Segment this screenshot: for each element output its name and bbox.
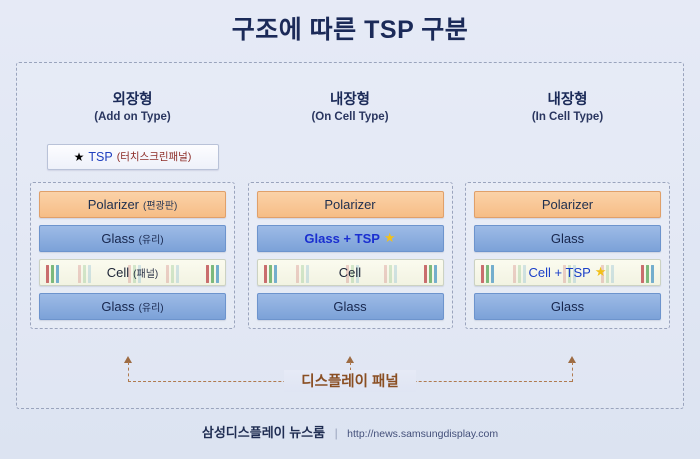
column-subtitle: (In Cell Type) (465, 110, 670, 126)
layer-sublabel: (유리) (139, 231, 164, 246)
columns-container: 외장형 (Add on Type) ★ TSP (터치스크린패널) Polari… (16, 62, 684, 362)
rgb-stripe-icon (641, 265, 654, 283)
layer-cell-tsp[interactable]: Cell + TSP ★ (474, 259, 661, 286)
layer-label: Polarizer (542, 197, 593, 212)
star-icon: ★ (74, 151, 85, 163)
layer-glass-bottom[interactable]: Glass (유리) (39, 293, 226, 320)
layer-cell[interactable]: Cell (257, 259, 444, 286)
tsp-sublabel: (터치스크린패널) (117, 149, 192, 164)
display-panel-connector: 디스플레이 패널 (16, 356, 684, 400)
rgb-stripe-icon (481, 265, 494, 283)
column-in-cell-type: 내장형 (In Cell Type) Polarizer Glass (465, 62, 670, 362)
column-header: 외장형 (Add on Type) (30, 62, 235, 126)
layer-polarizer[interactable]: Polarizer (257, 191, 444, 218)
column-title: 외장형 (30, 91, 235, 109)
layer-label: Glass (551, 231, 584, 246)
star-icon: ★ (595, 264, 607, 280)
rgb-stripe-icon (424, 265, 437, 283)
layer-label: Polarizer (88, 197, 139, 212)
layer-stack: Polarizer Glass Cell + TSP ★ (465, 182, 670, 329)
rgb-stripe-icon (264, 265, 277, 283)
rgb-stripe-icon (166, 265, 179, 283)
column-header: 내장형 (In Cell Type) (465, 62, 670, 126)
layer-label: Glass (101, 231, 134, 246)
layer-stack: Polarizer (편광판) Glass (유리) Cell (패널) (30, 182, 235, 329)
layer-glass-bottom[interactable]: Glass (474, 293, 661, 320)
layer-label: Glass (551, 299, 584, 314)
footer-url[interactable]: http://news.samsungdisplay.com (347, 428, 498, 440)
layer-stack: Polarizer Glass + TSP ★ Cell (248, 182, 453, 329)
layer-glass-bottom[interactable]: Glass (257, 293, 444, 320)
connector-vline (128, 362, 129, 382)
layer-glass-top[interactable]: Glass (유리) (39, 225, 226, 252)
layer-label: Cell (339, 265, 361, 280)
layer-cell[interactable]: Cell (패널) (39, 259, 226, 286)
layer-sublabel: (유리) (139, 299, 164, 314)
layer-glass-top[interactable]: Glass (474, 225, 661, 252)
layer-label: Glass (101, 299, 134, 314)
column-title: 내장형 (465, 91, 670, 109)
layer-sublabel: (패널) (133, 265, 158, 280)
layer-label: Glass (333, 299, 366, 314)
rgb-stripe-icon (296, 265, 309, 283)
layer-sublabel: (편광판) (143, 197, 177, 212)
layer-polarizer[interactable]: Polarizer (편광판) (39, 191, 226, 218)
column-add-on-type: 외장형 (Add on Type) ★ TSP (터치스크린패널) Polari… (30, 62, 235, 362)
column-header: 내장형 (On Cell Type) (248, 62, 453, 126)
footer-brand: 삼성디스플레이 뉴스룸 (202, 425, 325, 440)
layer-label: Cell + TSP (529, 265, 591, 280)
layer-label: Polarizer (324, 197, 375, 212)
column-subtitle: (Add on Type) (30, 110, 235, 126)
rgb-stripe-icon (384, 265, 397, 283)
tsp-box[interactable]: ★ TSP (터치스크린패널) (47, 144, 219, 170)
page-title: 구조에 따른 TSP 구분 (0, 0, 700, 45)
tsp-label: TSP (88, 150, 112, 164)
column-title: 내장형 (248, 91, 453, 109)
layer-label: Glass + TSP (304, 231, 380, 246)
tsp-slot: ★ TSP (터치스크린패널) (30, 134, 235, 180)
star-icon: ★ (384, 230, 396, 246)
rgb-stripe-icon (46, 265, 59, 283)
footer-divider: | (335, 426, 338, 440)
connector-vline (572, 362, 573, 382)
display-panel-label: 디스플레이 패널 (289, 370, 410, 391)
column-on-cell-type: 내장형 (On Cell Type) Polarizer Glass + TSP… (248, 62, 453, 362)
rgb-stripe-icon (513, 265, 526, 283)
layer-polarizer[interactable]: Polarizer (474, 191, 661, 218)
footer: 삼성디스플레이 뉴스룸 | http://news.samsungdisplay… (0, 422, 700, 442)
column-subtitle: (On Cell Type) (248, 110, 453, 126)
rgb-stripe-icon (206, 265, 219, 283)
layer-glass-tsp[interactable]: Glass + TSP ★ (257, 225, 444, 252)
layer-label: Cell (107, 265, 129, 280)
rgb-stripe-icon (78, 265, 91, 283)
